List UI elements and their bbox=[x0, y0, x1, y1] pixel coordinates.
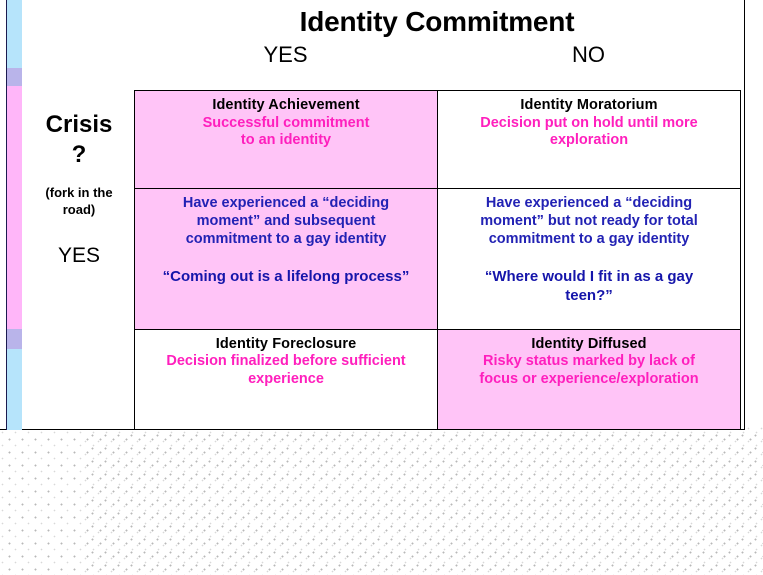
accent-band-purple-bot bbox=[7, 329, 22, 349]
cell-identity-achievement[interactable]: Identity Achievement Successful commitme… bbox=[135, 91, 438, 189]
cell-description-line2: experience bbox=[143, 371, 429, 389]
cell-body-line2: moment” but not ready for total bbox=[446, 213, 732, 231]
cell-description-line2: focus or experience/exploration bbox=[446, 371, 732, 389]
cell-quote-line2: teen?” bbox=[446, 287, 732, 305]
cell-heading: Identity Foreclosure bbox=[143, 336, 429, 354]
row-label-question: ? bbox=[24, 139, 134, 171]
column-header-yes: YES bbox=[134, 42, 437, 68]
row-label-note-line2: road) bbox=[24, 202, 134, 218]
cell-body-line2: moment” and subsequent bbox=[143, 213, 429, 231]
row-label-note: (fork in the road) bbox=[24, 185, 134, 218]
cell-identity-moratorium[interactable]: Identity Moratorium Decision put on hold… bbox=[438, 91, 741, 189]
cell-description-line1: Decision finalized before sufficient bbox=[143, 353, 429, 371]
table-row: Have experienced a “deciding moment” and… bbox=[135, 189, 741, 329]
cell-quote-line1: “Coming out is a lifelong process” bbox=[143, 268, 429, 286]
cell-heading: Identity Achievement bbox=[143, 97, 429, 115]
cell-identity-diffused[interactable]: Identity Diffused Risky status marked by… bbox=[438, 329, 741, 429]
slide-content-card: Identity Commitment YES NO Crisis ? (for… bbox=[0, 0, 745, 430]
cell-quote-line1: “Where would I fit in as a gay bbox=[446, 268, 732, 286]
accent-strip bbox=[6, 0, 22, 430]
row-label-answer-yes: YES bbox=[24, 244, 134, 267]
accent-band-blue-top bbox=[7, 0, 22, 68]
cell-body-line3: commitment to a gay identity bbox=[143, 231, 429, 249]
row-label-group: Crisis ? (fork in the road) YES bbox=[24, 112, 134, 267]
dotted-background-right bbox=[82, 425, 763, 575]
cell-description-line2: exploration bbox=[446, 132, 732, 150]
cell-body-line3: commitment to a gay identity bbox=[446, 231, 732, 249]
cell-identity-foreclosure[interactable]: Identity Foreclosure Decision finalized … bbox=[135, 329, 438, 429]
accent-band-purple-top bbox=[7, 68, 22, 86]
cell-heading: Identity Diffused bbox=[446, 336, 732, 354]
page-title: Identity Commitment bbox=[134, 6, 740, 38]
cell-body-line1: Have experienced a “deciding bbox=[143, 195, 429, 213]
table-row: Identity Achievement Successful commitme… bbox=[135, 91, 741, 189]
identity-status-matrix: Identity Achievement Successful commitme… bbox=[134, 90, 741, 430]
column-header-no: NO bbox=[437, 42, 740, 68]
cell-description-line1: Decision put on hold until more bbox=[446, 115, 732, 133]
cell-body-line1: Have experienced a “deciding bbox=[446, 195, 732, 213]
row-label-note-line1: (fork in the bbox=[24, 185, 134, 201]
accent-band-blue-bottom bbox=[7, 349, 22, 430]
cell-moratorium-experience[interactable]: Have experienced a “deciding moment” but… bbox=[438, 189, 741, 329]
slide-canvas: Identity Commitment YES NO Crisis ? (for… bbox=[0, 0, 763, 575]
cell-achievement-experience[interactable]: Have experienced a “deciding moment” and… bbox=[135, 189, 438, 329]
cell-description-line1: Successful commitment bbox=[143, 115, 429, 133]
cell-heading: Identity Moratorium bbox=[446, 97, 732, 115]
table-row: Identity Foreclosure Decision finalized … bbox=[135, 329, 741, 429]
accent-band-pink-middle bbox=[7, 86, 22, 329]
cell-description-line1: Risky status marked by lack of bbox=[446, 353, 732, 371]
row-label-crisis: Crisis bbox=[24, 112, 134, 139]
cell-description-line2: to an identity bbox=[143, 132, 429, 150]
